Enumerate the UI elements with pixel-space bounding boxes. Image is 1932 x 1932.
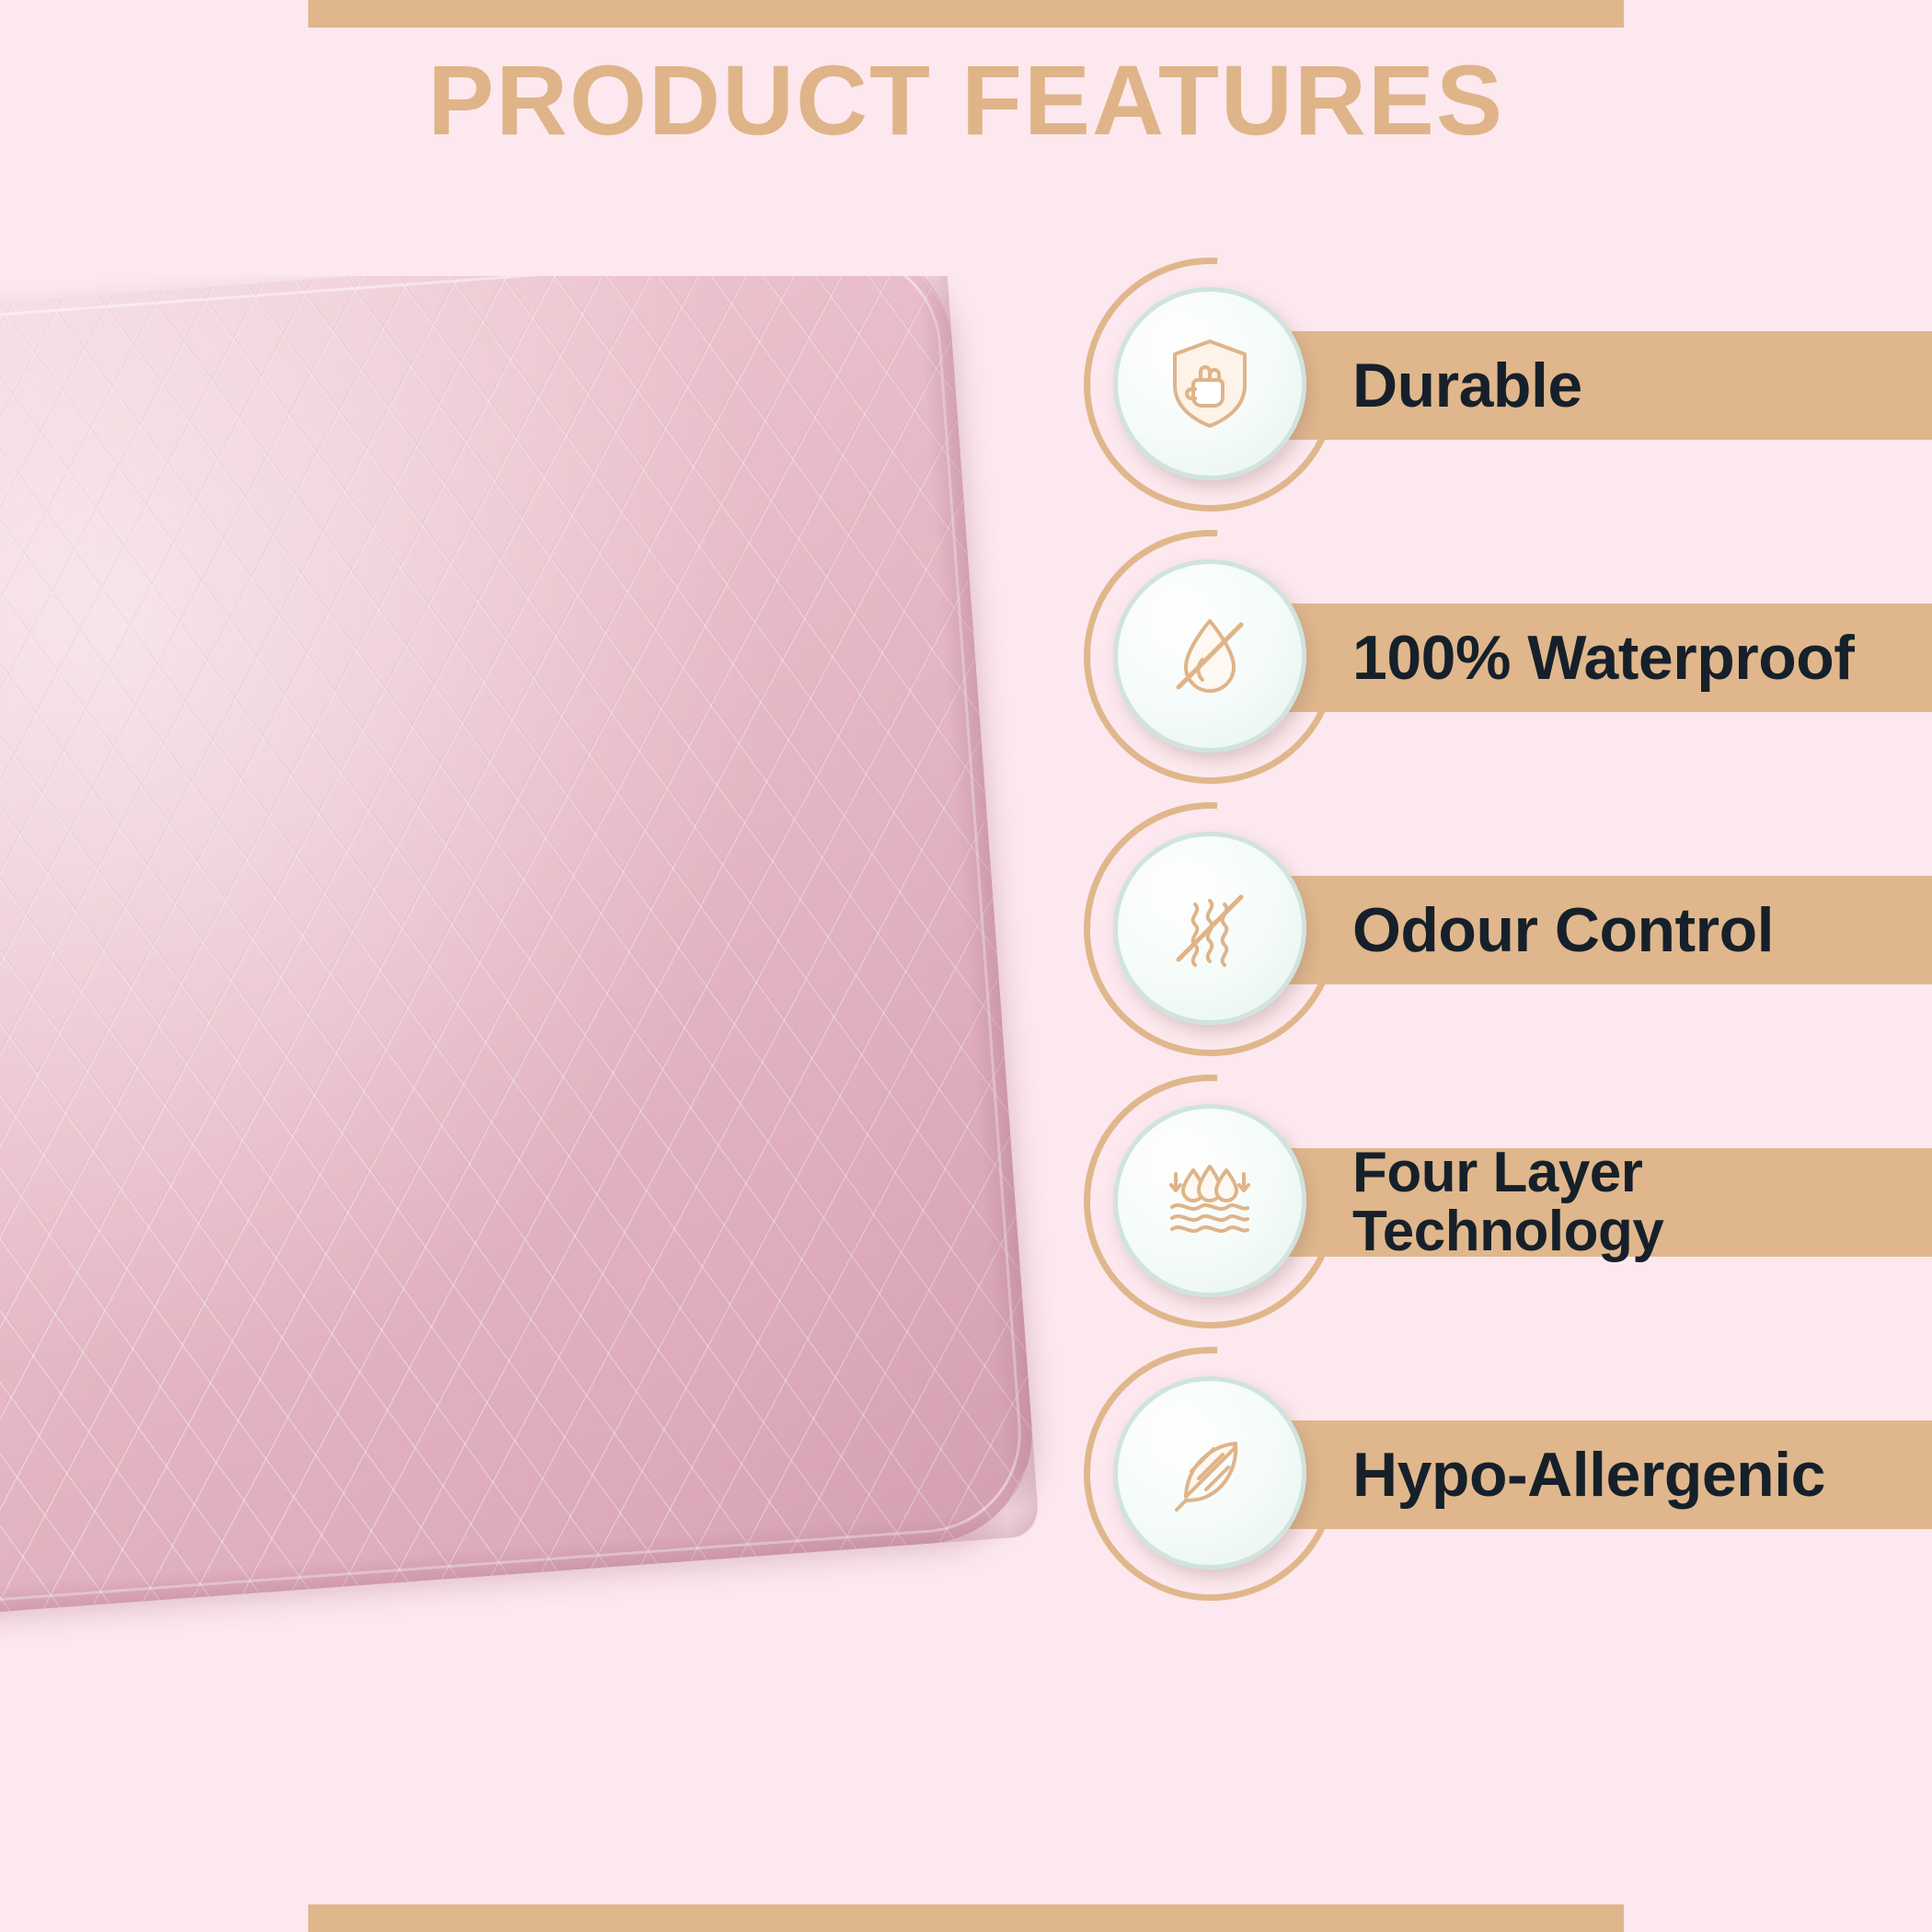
four-layer-absorption-icon — [1113, 1104, 1306, 1297]
bottom-accent-bar — [308, 1904, 1624, 1932]
water-drop-crossed-icon — [1113, 559, 1306, 753]
feature-badge — [1076, 250, 1334, 508]
feature-label: Odour Control — [1352, 876, 1923, 984]
feature-item-waterproof: 100% Waterproof — [1076, 523, 1932, 795]
quilted-bed-pad-graphic — [0, 276, 1040, 1626]
feature-item-four-layer-technology: Four Layer Technology — [1076, 1067, 1932, 1340]
feature-label: Hypo-Allergenic — [1352, 1420, 1923, 1529]
feature-label: Four Layer Technology — [1352, 1148, 1923, 1257]
stitched-hem — [0, 276, 1028, 1614]
product-image — [0, 276, 1058, 1711]
feature-item-odour-control: Odour Control — [1076, 795, 1932, 1067]
odour-waves-crossed-icon — [1113, 832, 1306, 1025]
feature-badge — [1076, 523, 1334, 780]
feature-badge — [1076, 1067, 1334, 1325]
feature-item-durable: Durable — [1076, 250, 1932, 523]
feather-icon — [1113, 1376, 1306, 1570]
feature-item-hypo-allergenic: Hypo-Allergenic — [1076, 1340, 1932, 1612]
feature-badge — [1076, 795, 1334, 1052]
top-accent-bar — [308, 0, 1624, 28]
feature-label: Durable — [1352, 331, 1923, 440]
shield-fist-icon — [1113, 287, 1306, 480]
feature-badge — [1076, 1340, 1334, 1597]
page-title: PRODUCT FEATURES — [0, 48, 1932, 152]
feature-list: Durable 100% Waterproof — [1076, 250, 1932, 1612]
feature-label: 100% Waterproof — [1352, 604, 1923, 712]
